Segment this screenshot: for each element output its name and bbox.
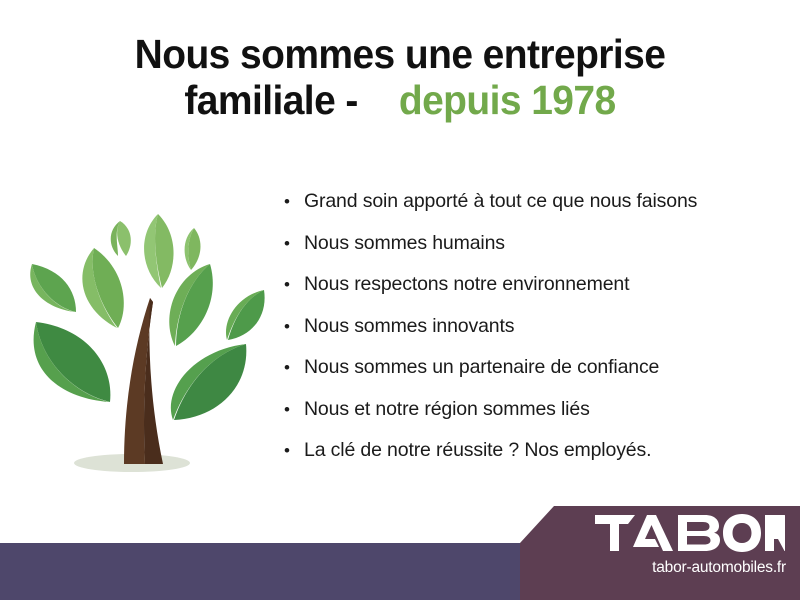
title-line-2: familiale - depuis 1978 (20, 78, 780, 124)
list-item-label: Nous sommes innovants (304, 315, 514, 338)
bullet-marker-icon: • (284, 401, 304, 418)
title-line-2-plain: familiale - (184, 77, 357, 123)
bullet-marker-icon: • (284, 318, 304, 335)
bullet-list: • Grand soin apporté à tout ce que nous … (284, 190, 784, 481)
leaf-mid-left (30, 264, 76, 312)
list-item: • Nous sommes humains (284, 232, 784, 274)
slide-canvas: Nous sommes une entreprise familiale - d… (0, 0, 800, 600)
tree-illustration (14, 186, 276, 486)
list-item-label: Nous respectons notre environnement (304, 273, 629, 296)
leaf-top-right-small (185, 228, 201, 270)
leaf-lower-right (171, 344, 246, 420)
leaf-upper-right (169, 264, 212, 346)
leaf-upper-left (82, 248, 123, 328)
bullet-marker-icon: • (284, 235, 304, 252)
list-item-label: Nous sommes humains (304, 232, 505, 255)
list-item-label: Grand soin apporté à tout ce que nous fa… (304, 190, 697, 213)
list-item-label: Nous sommes un partenaire de confiance (304, 356, 659, 379)
page-title: Nous sommes une entreprise familiale - d… (0, 32, 800, 124)
list-item: • La clé de notre réussite ? Nos employé… (284, 439, 784, 481)
tabor-logo-icon (595, 513, 785, 553)
bullet-marker-icon: • (284, 442, 304, 459)
leaf-lower-left (34, 322, 111, 402)
list-item: • Grand soin apporté à tout ce que nous … (284, 190, 784, 232)
list-item: • Nous sommes un partenaire de confiance (284, 356, 784, 398)
list-item: • Nous sommes innovants (284, 315, 784, 357)
leaf-top-left-small (111, 221, 131, 256)
list-item: • Nous respectons notre environnement (284, 273, 784, 315)
leaf-far-right (226, 290, 265, 340)
title-line-1: Nous sommes une entreprise (20, 32, 780, 78)
bullet-marker-icon: • (284, 193, 304, 210)
leaf-top-center (144, 214, 173, 288)
tree-trunk (124, 298, 163, 464)
list-item-label: Nous et notre région sommes liés (304, 398, 590, 421)
list-item-label: La clé de notre réussite ? Nos employés. (304, 439, 651, 462)
list-item: • Nous et notre région sommes liés (284, 398, 784, 440)
title-accent-year: depuis 1978 (399, 77, 616, 123)
brand-domain-label: tabor-automobiles.fr (520, 559, 786, 577)
bullet-marker-icon: • (284, 276, 304, 293)
bullet-marker-icon: • (284, 359, 304, 376)
